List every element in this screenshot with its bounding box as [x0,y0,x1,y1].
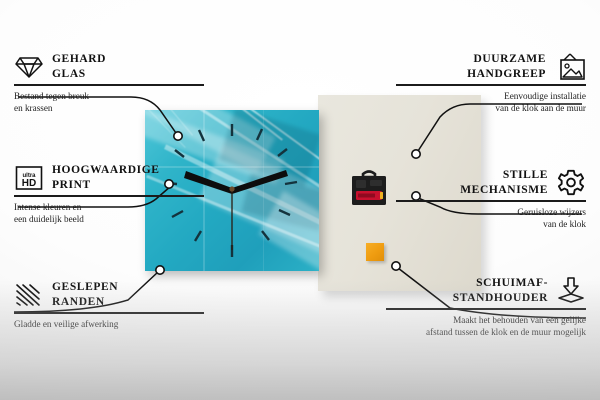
feature-header: ultra HD HOOGWAARDIGE PRINT [14,163,204,192]
divider [14,195,204,196]
divider [396,84,586,85]
beveled-edges-icon [14,282,44,308]
feature-header: GEHARD GLAS [14,52,204,81]
feature-title: HOOGWAARDIGE PRINT [52,163,160,192]
divider [14,312,204,313]
divider [386,308,586,309]
feature-title: GEHARD GLAS [52,52,106,81]
feature-header: DUURZAME HANDGREEP [396,52,586,81]
feature-description: Intense kleuren en een duidelijk beeld [14,201,204,226]
feature-header: STILLE MECHANISME [396,168,586,197]
feature-duurzame-handgreep: DUURZAME HANDGREEP Eenvoudige installati… [396,52,586,114]
diamond-icon [14,54,44,80]
feature-geslepen-randen: GESLEPEN RANDEN Gladde en veilige afwerk… [14,280,204,330]
ultra-hd-icon: ultra HD [14,164,44,192]
gear-icon [556,169,586,197]
divider [396,200,586,201]
feature-title: DUURZAME HANDGREEP [467,52,546,81]
feature-title: SCHUIMAF- STANDHOUDER [453,276,548,305]
feature-description: Eenvoudige installatie van de klok aan d… [396,90,586,115]
picture-frame-hook-icon [554,53,586,81]
feature-hoogwaardige-print: ultra HD HOOGWAARDIGE PRINT Intense kleu… [14,163,204,225]
feature-description: Geruisloze wijzers van de klok [396,206,586,231]
infographic-canvas: GEHARD GLAS Bestand tegen breuk en krass… [0,0,600,400]
feature-description: Bestand tegen breuk en krassen [14,90,204,115]
svg-text:HD: HD [22,178,36,189]
press-down-arrow-icon [556,277,586,305]
feature-title: STILLE MECHANISME [460,168,548,197]
divider [14,84,204,85]
feature-title: GESLEPEN RANDEN [52,280,118,309]
feature-schuimafstandhouder: SCHUIMAF- STANDHOUDER Maakt het behouden… [386,276,586,338]
feature-description: Maakt het behouden van een gelijke afsta… [386,314,586,339]
feature-gehard-glas: GEHARD GLAS Bestand tegen breuk en krass… [14,52,204,114]
feature-header: GESLEPEN RANDEN [14,280,204,309]
feature-header: SCHUIMAF- STANDHOUDER [386,276,586,305]
feature-description: Gladde en veilige afwerking [14,318,204,330]
feature-stille-mechanisme: STILLE MECHANISME Geruisloze wijzers van… [396,168,586,230]
